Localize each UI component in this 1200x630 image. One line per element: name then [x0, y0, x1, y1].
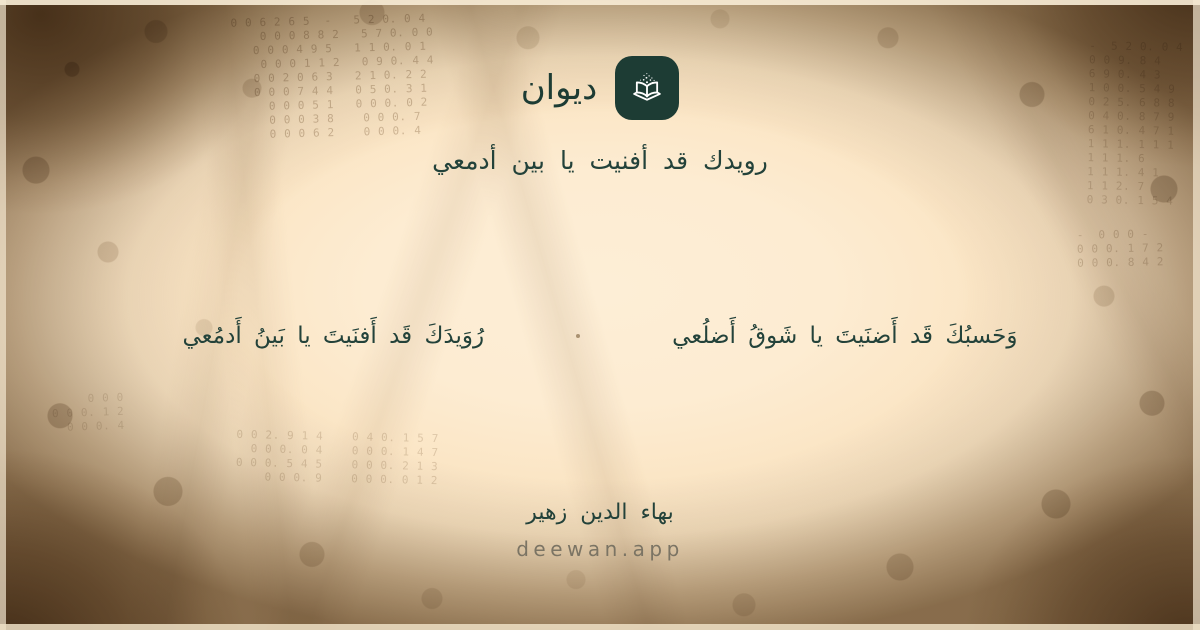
poet-name: بهاء الدين زهير	[526, 498, 674, 529]
poem-card: 4 0 .0 2 5 - 5 6 2 6 0 0 0 0 .0 7 5 2 8 …	[0, 0, 1200, 630]
card-content: ديوان رويدك قد أفنيت يا بين أدمعي وَحَسب…	[0, 0, 1200, 630]
site-url[interactable]: deewan.app	[516, 535, 684, 563]
verse-line: وَحَسبُكَ قَد أَضنَيتَ يا شَوقُ أَضلُعي …	[0, 318, 1200, 355]
open-book-sparkles-icon	[615, 56, 679, 120]
hemistich-first: رُوَيدَكَ قَد أَفنَيتَ يا بَينُ أَدمُعي	[183, 318, 485, 355]
brand-name: ديوان	[521, 71, 598, 105]
poem-title: رويدك قد أفنيت يا بين أدمعي	[432, 142, 768, 180]
verse-separator-dot	[576, 334, 580, 338]
brand-lockup[interactable]: ديوان	[521, 56, 680, 120]
card-footer: بهاء الدين زهير deewan.app	[0, 498, 1200, 563]
hemistich-second: وَحَسبُكَ قَد أَضنَيتَ يا شَوقُ أَضلُعي	[672, 318, 1017, 355]
